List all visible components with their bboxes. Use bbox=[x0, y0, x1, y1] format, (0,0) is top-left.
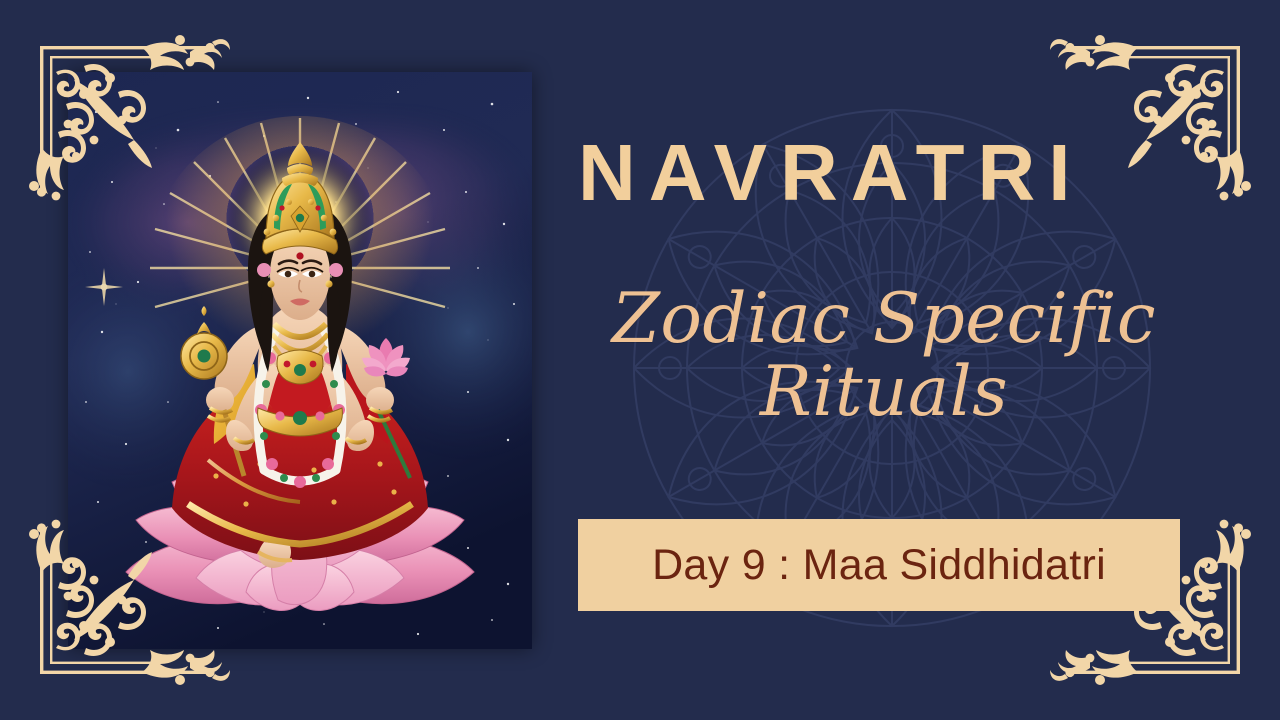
day-banner-label: Day 9 : Maa Siddhidatri bbox=[652, 541, 1106, 590]
subtitle-line-1: Zodiac Specific bbox=[578, 283, 1190, 356]
goddess-artwork bbox=[68, 72, 532, 649]
page-title: NAVRATRI bbox=[578, 133, 1198, 213]
navratri-poster: NAVRATRI Zodiac Specific Rituals Day 9 :… bbox=[0, 0, 1280, 720]
day-banner: Day 9 : Maa Siddhidatri bbox=[578, 519, 1180, 611]
subtitle: Zodiac Specific Rituals bbox=[578, 283, 1190, 429]
subtitle-line-2: Rituals bbox=[578, 356, 1190, 429]
